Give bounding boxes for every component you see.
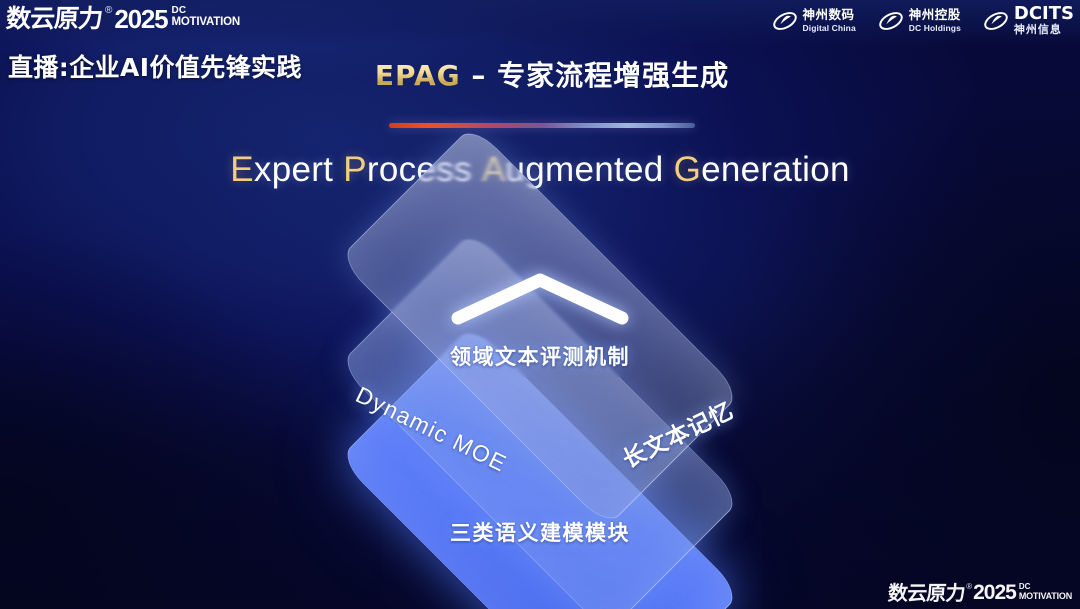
- partner-logo-digital-china: 神州数码 Digital China: [772, 8, 856, 34]
- swirl-logo-icon: [983, 8, 1009, 34]
- partner-name-en: DC Holdings: [909, 24, 961, 33]
- partner-name-cn-dcits: 神州信息: [1014, 25, 1074, 36]
- subtitle-cap-g: G: [674, 150, 702, 189]
- title-acronym: EPAG: [375, 59, 461, 92]
- event-logo-year: 2025: [114, 4, 167, 34]
- slide-canvas: 数云原力 ® 2025 DC MOTIVATION 直播:企业AI价值先锋实践 …: [0, 0, 1080, 609]
- partner-name-en: Digital China: [803, 24, 856, 33]
- watermark-motivation: MOTIVATION: [1019, 592, 1072, 601]
- partner-logo-dc-holdings: 神州控股 DC Holdings: [878, 8, 961, 34]
- partner-name-en-dcits: DCITS: [1014, 5, 1074, 23]
- event-logo-dc-motivation: DC MOTIVATION: [171, 6, 239, 29]
- swirl-logo-icon: [878, 8, 904, 34]
- watermark-cn: 数云原力: [888, 581, 966, 605]
- page-subtitle: Expert Process Augmented Generation: [0, 150, 1080, 190]
- page-title: EPAG – 专家流程增强生成: [0, 54, 1080, 94]
- partner-name-cn: 神州数码: [803, 9, 856, 22]
- title-divider: [389, 123, 695, 128]
- footer-watermark: 数云原力 ® 2025 DC MOTIVATION: [888, 581, 1072, 605]
- swirl-logo-icon: [772, 8, 798, 34]
- registered-mark: ®: [105, 4, 112, 18]
- partner-name-cn: 神州控股: [909, 9, 961, 22]
- subtitle-cap-p: P: [343, 150, 367, 189]
- title-separator: –: [461, 59, 498, 92]
- watermark-dc-motivation: DC MOTIVATION: [1019, 583, 1072, 601]
- partner-logo-dcits: DCITS 神州信息: [983, 5, 1074, 36]
- subtitle-rest-generation: eneration: [701, 150, 850, 189]
- subtitle-cap-e: E: [230, 150, 254, 189]
- event-logo-motivation: MOTIVATION: [171, 17, 239, 29]
- watermark-registered-mark: ®: [966, 581, 972, 592]
- subtitle-rest-expert: xpert: [254, 150, 333, 189]
- layered-stack-diagram: 领域文本评测机制 Dynamic MOE 长文本记忆 三类语义建模模块: [255, 228, 825, 588]
- event-logo-cn: 数云原力: [5, 4, 103, 34]
- event-logo-dc: DC: [171, 6, 239, 16]
- watermark-dc: DC: [1019, 583, 1072, 591]
- event-logo: 数云原力 ® 2025 DC MOTIVATION: [6, 4, 240, 34]
- title-chinese: 专家流程增强生成: [497, 59, 729, 92]
- partner-logo-group: 神州数码 Digital China 神州控股 DC Holdings: [772, 5, 1074, 36]
- watermark-year: 2025: [973, 581, 1016, 605]
